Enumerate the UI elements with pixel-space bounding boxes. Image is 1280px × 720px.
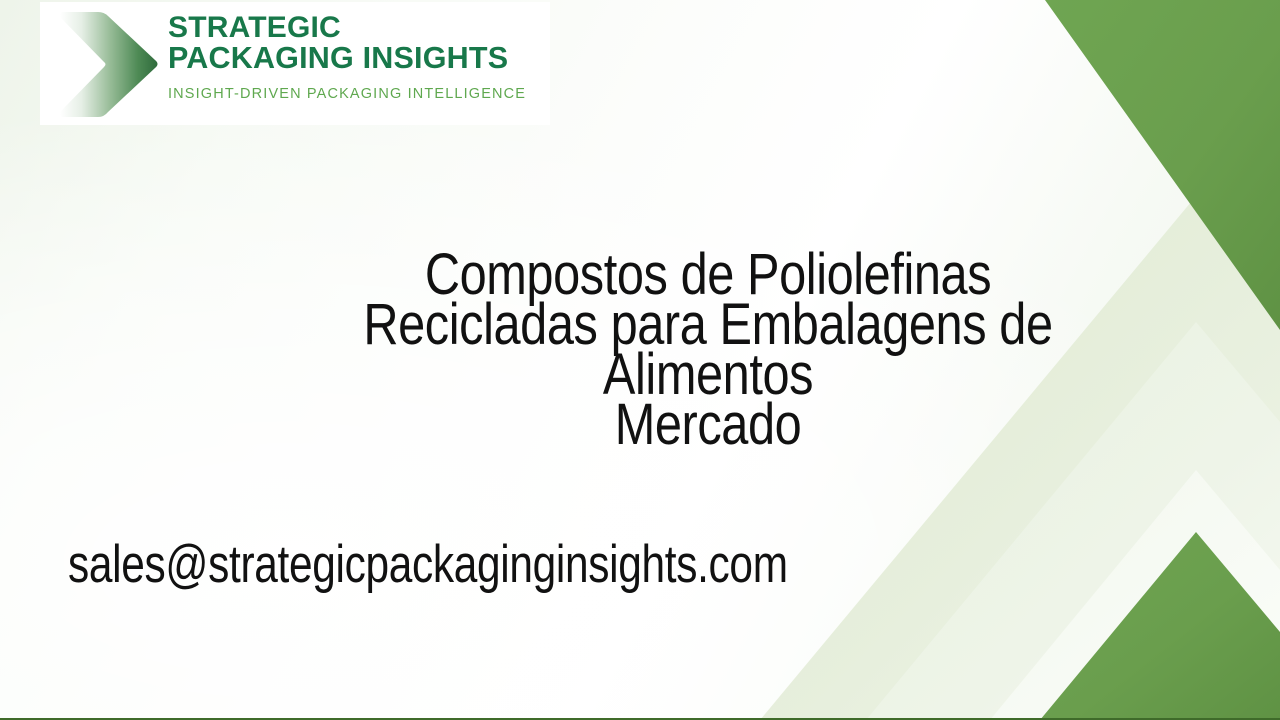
brand-wordmark: STRATEGIC PACKAGING INSIGHTS INSIGHT-DRI… bbox=[168, 12, 546, 102]
chevron-arrow-mark bbox=[52, 6, 164, 122]
brand-wordmark-line2: PACKAGING INSIGHTS bbox=[168, 43, 546, 74]
slide-title: Compostos de Poliolefinas Recicladas par… bbox=[310, 250, 1106, 450]
brand-logo: STRATEGIC PACKAGING INSIGHTS INSIGHT-DRI… bbox=[40, 2, 550, 125]
brand-wordmark-line1: STRATEGIC bbox=[168, 12, 546, 43]
contact-email: sales@strategicpackaginginsights.com bbox=[68, 534, 788, 596]
slide-canvas: STRATEGIC PACKAGING INSIGHTS INSIGHT-DRI… bbox=[0, 0, 1280, 720]
brand-tagline: INSIGHT-DRIVEN PACKAGING INTELLIGENCE bbox=[168, 86, 546, 102]
